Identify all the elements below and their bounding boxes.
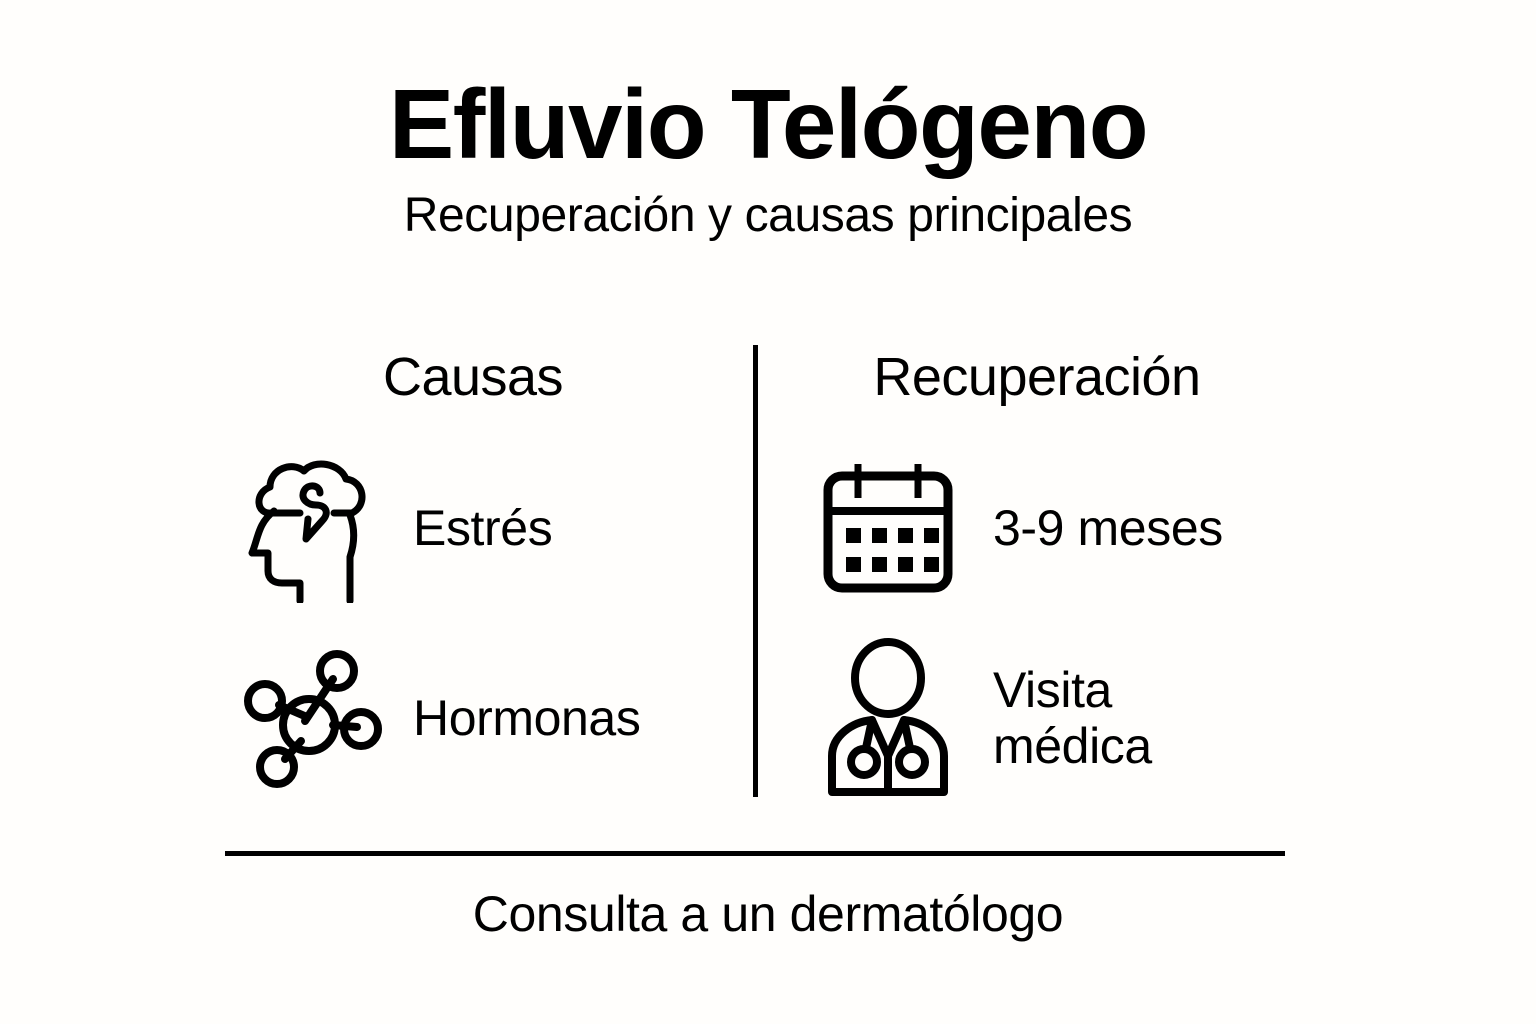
stressed-head-icon (233, 453, 383, 603)
page-title: Efluvio Telógeno (0, 72, 1536, 178)
doctor-icon (813, 643, 963, 793)
columns-section: Causas (225, 340, 1285, 802)
list-item-label: Visita médica (993, 662, 1152, 774)
list-item-hormonas: Hormonas (233, 638, 640, 798)
column-divider (753, 345, 758, 797)
footer-divider (225, 851, 1285, 856)
list-item-label: Estrés (413, 500, 552, 556)
list-item-visita-medica: Visita médica (813, 638, 1152, 798)
list-item-duracion: 3-9 meses (813, 448, 1223, 608)
recuperacion-item-list: 3-9 meses (789, 448, 1285, 798)
list-item-label: 3-9 meses (993, 500, 1223, 556)
list-item-estres: Estrés (233, 448, 552, 608)
column-title-causas: Causas (383, 350, 563, 404)
column-title-recuperacion: Recuperación (873, 350, 1200, 404)
calendar-icon (813, 453, 963, 603)
footer-note: Consulta a un dermatólogo (0, 885, 1536, 943)
list-item-label: Hormonas (413, 690, 640, 746)
infographic-poster: Efluvio Telógeno Recuperación y causas p… (0, 0, 1536, 1024)
column-causas: Causas (225, 340, 755, 802)
column-recuperacion: Recuperación (755, 340, 1285, 802)
header: Efluvio Telógeno Recuperación y causas p… (0, 72, 1536, 243)
molecule-icon (233, 643, 383, 793)
page-subtitle: Recuperación y causas principales (0, 190, 1536, 243)
causas-item-list: Estrés (225, 448, 721, 798)
